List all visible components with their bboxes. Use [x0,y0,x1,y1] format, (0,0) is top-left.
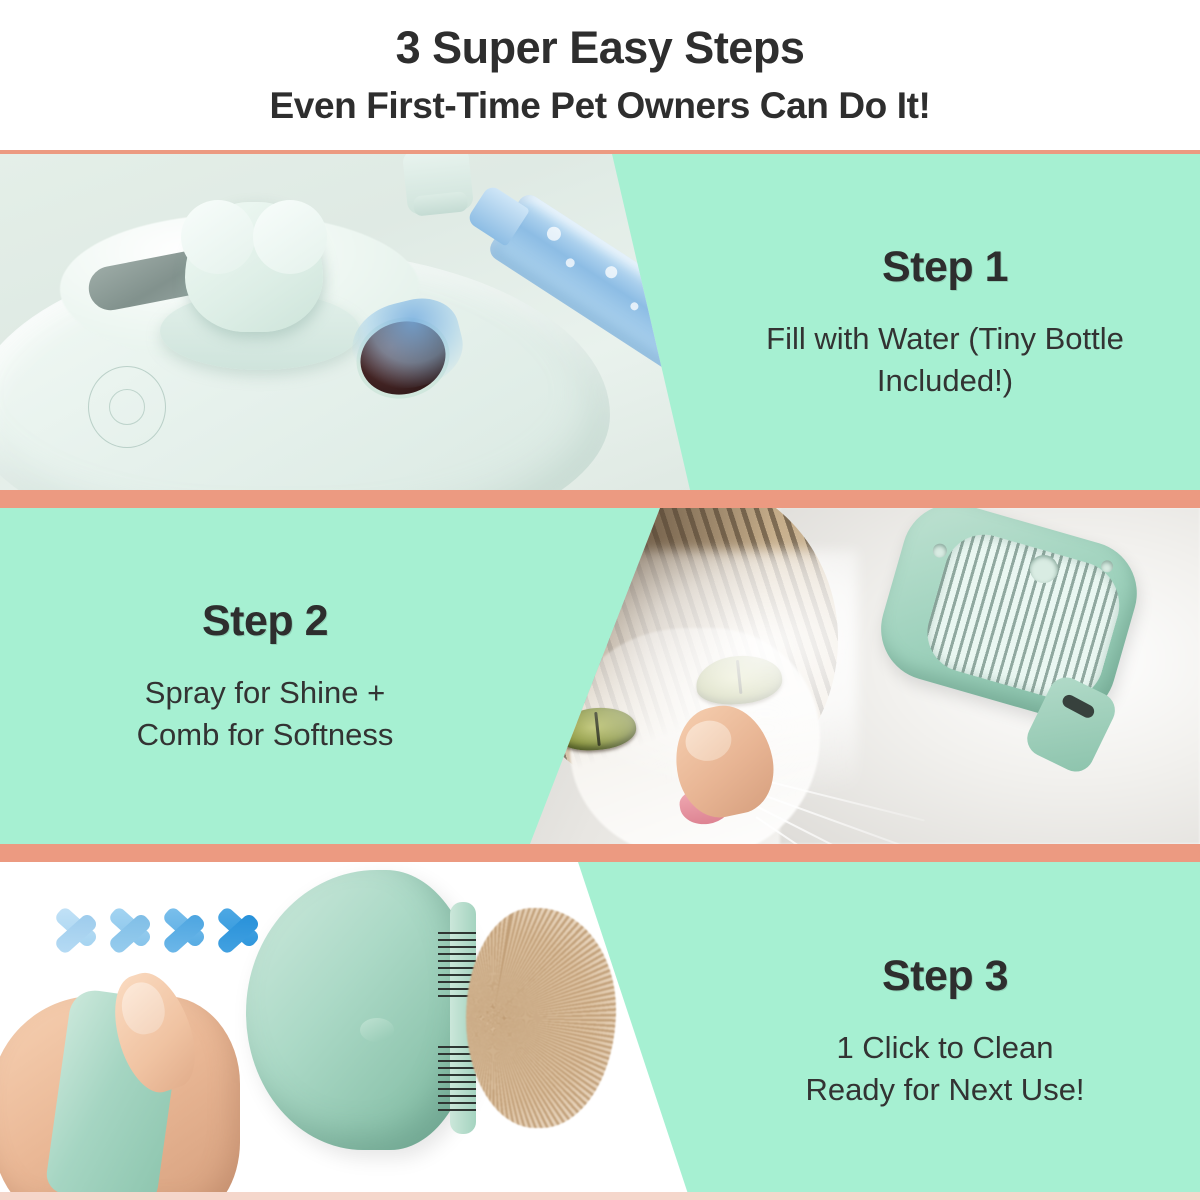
heart-knob-icon [185,202,323,332]
step-1-text-block: Step 1 Fill with Water (Tiny Bottle Incl… [690,154,1200,490]
divider-between-step-1-and-2 [0,490,1200,508]
grooming-brush-icon [210,866,580,1186]
step-3-text-block: Step 3 1 Click to Clean Ready for Next U… [690,862,1200,1200]
step-3-panel: Step 3 1 Click to Clean Ready for Next U… [0,862,1200,1200]
step-1-body: Fill with Water (Tiny Bottle Included!) [766,318,1124,402]
chevron-right-icon [56,888,102,974]
bubble-icon [629,301,640,312]
header: 3 Super Easy Steps Even First-Time Pet O… [0,0,1200,152]
bubble-icon [544,224,563,243]
thumbnail-icon [117,978,169,1038]
step-2-panel: Step 2 Spray for Shine + Comb for Softne… [0,508,1200,844]
step-2-title: Step 2 [202,597,328,646]
step-2-text-block: Step 2 Spray for Shine + Comb for Softne… [0,508,530,844]
brush-side-nub-icon [360,1018,394,1042]
step-1-panel: Step 1 Fill with Water (Tiny Bottle Incl… [0,154,1200,490]
divider-between-step-2-and-3 [0,844,1200,862]
divider-bottom [0,1192,1200,1200]
page-title: 3 Super Easy Steps [396,22,805,74]
step-2-body: Spray for Shine + Comb for Softness [137,672,394,756]
infographic-page: 3 Super Easy Steps Even First-Time Pet O… [0,0,1200,1200]
chevron-right-icon [164,888,210,974]
fountain-ring-marking-icon [88,366,166,448]
chevron-right-icon [110,888,156,974]
thumbnail-icon [682,716,735,765]
step-3-title: Step 3 [882,952,1008,1001]
step-1-title: Step 1 [882,243,1008,292]
bubble-icon [564,257,576,269]
bottle-cap-icon [402,154,474,215]
collected-fur-clump-icon [466,908,616,1128]
page-subtitle: Even First-Time Pet Owners Can Do It! [270,84,931,128]
step-1-image [0,154,700,490]
bubble-icon [603,264,620,281]
step-3-body: 1 Click to Clean Ready for Next Use! [805,1027,1084,1111]
